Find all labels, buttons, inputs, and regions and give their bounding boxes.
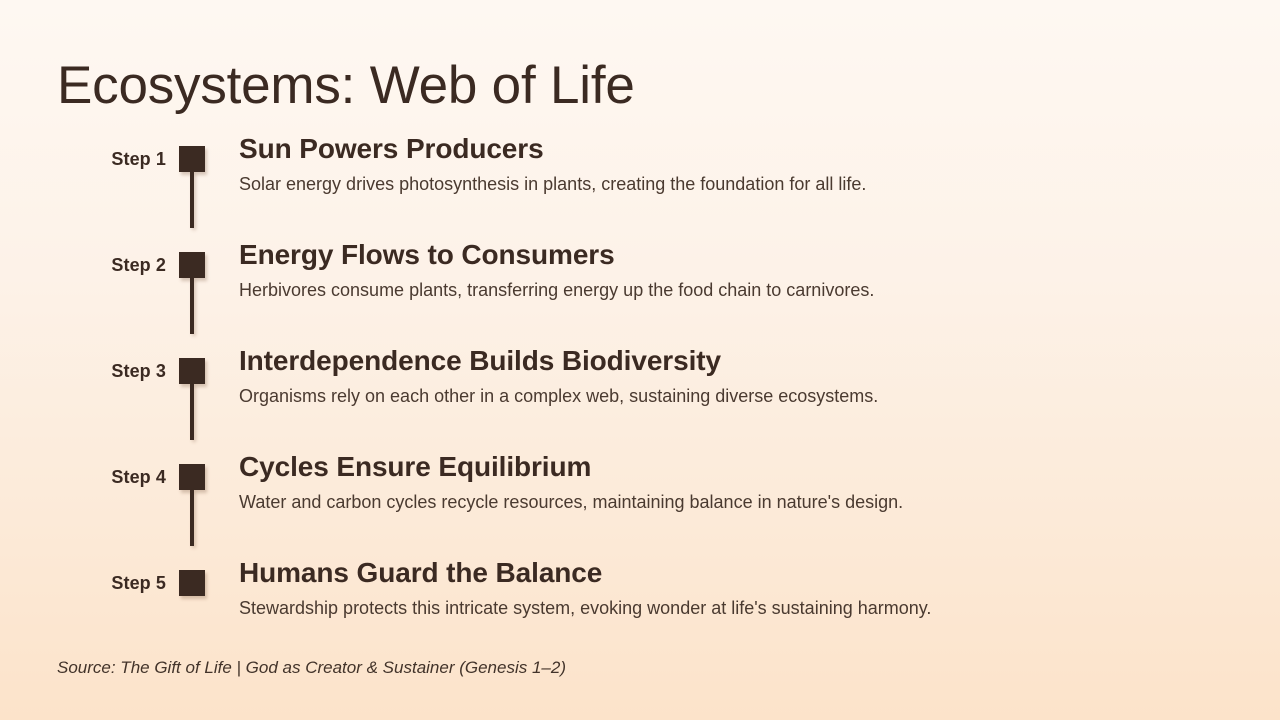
timeline-connector-line: [190, 384, 194, 440]
step-content: Humans Guard the Balance Stewardship pro…: [239, 556, 1250, 620]
step-description: Stewardship protects this intricate syst…: [239, 596, 1250, 620]
step-description: Organisms rely on each other in a comple…: [239, 384, 1250, 408]
step-description: Water and carbon cycles recycle resource…: [239, 490, 1250, 514]
step-heading: Energy Flows to Consumers: [239, 238, 1250, 272]
step-description: Solar energy drives photosynthesis in pl…: [239, 172, 1250, 196]
step-number-label: Step 5: [30, 573, 166, 594]
timeline-step-2: Step 2 Energy Flows to Consumers Herbivo…: [0, 252, 1280, 358]
timeline-marker-column: [179, 464, 209, 570]
step-number-label: Step 3: [30, 361, 166, 382]
step-content: Energy Flows to Consumers Herbivores con…: [239, 238, 1250, 302]
timeline-marker-column: [179, 146, 209, 252]
step-heading: Interdependence Builds Biodiversity: [239, 344, 1250, 378]
step-number-label: Step 4: [30, 467, 166, 488]
step-content: Cycles Ensure Equilibrium Water and carb…: [239, 450, 1250, 514]
timeline-connector-line: [190, 490, 194, 546]
timeline-step-5: Step 5 Humans Guard the Balance Stewards…: [0, 570, 1280, 640]
slide-canvas: Ecosystems: Web of Life Step 1 Sun Power…: [0, 0, 1280, 720]
timeline-marker-column: [179, 252, 209, 358]
timeline-step-4: Step 4 Cycles Ensure Equilibrium Water a…: [0, 464, 1280, 570]
square-marker-icon: [179, 252, 205, 278]
timeline-marker-column: [179, 570, 209, 640]
step-heading: Cycles Ensure Equilibrium: [239, 450, 1250, 484]
source-citation: Source: The Gift of Life | God as Creato…: [57, 658, 566, 678]
timeline-marker-column: [179, 358, 209, 464]
timeline-connector-line: [190, 278, 194, 334]
step-description: Herbivores consume plants, transferring …: [239, 278, 1250, 302]
step-heading: Humans Guard the Balance: [239, 556, 1250, 590]
timeline-connector-line: [190, 172, 194, 228]
step-heading: Sun Powers Producers: [239, 132, 1250, 166]
timeline-step-3: Step 3 Interdependence Builds Biodiversi…: [0, 358, 1280, 464]
square-marker-icon: [179, 146, 205, 172]
step-content: Sun Powers Producers Solar energy drives…: [239, 132, 1250, 196]
square-marker-icon: [179, 570, 205, 596]
timeline-step-1: Step 1 Sun Powers Producers Solar energy…: [0, 146, 1280, 252]
step-content: Interdependence Builds Biodiversity Orga…: [239, 344, 1250, 408]
step-number-label: Step 1: [30, 149, 166, 170]
square-marker-icon: [179, 464, 205, 490]
step-number-label: Step 2: [30, 255, 166, 276]
timeline-step-list: Step 1 Sun Powers Producers Solar energy…: [0, 146, 1280, 640]
square-marker-icon: [179, 358, 205, 384]
page-title: Ecosystems: Web of Life: [57, 56, 635, 115]
